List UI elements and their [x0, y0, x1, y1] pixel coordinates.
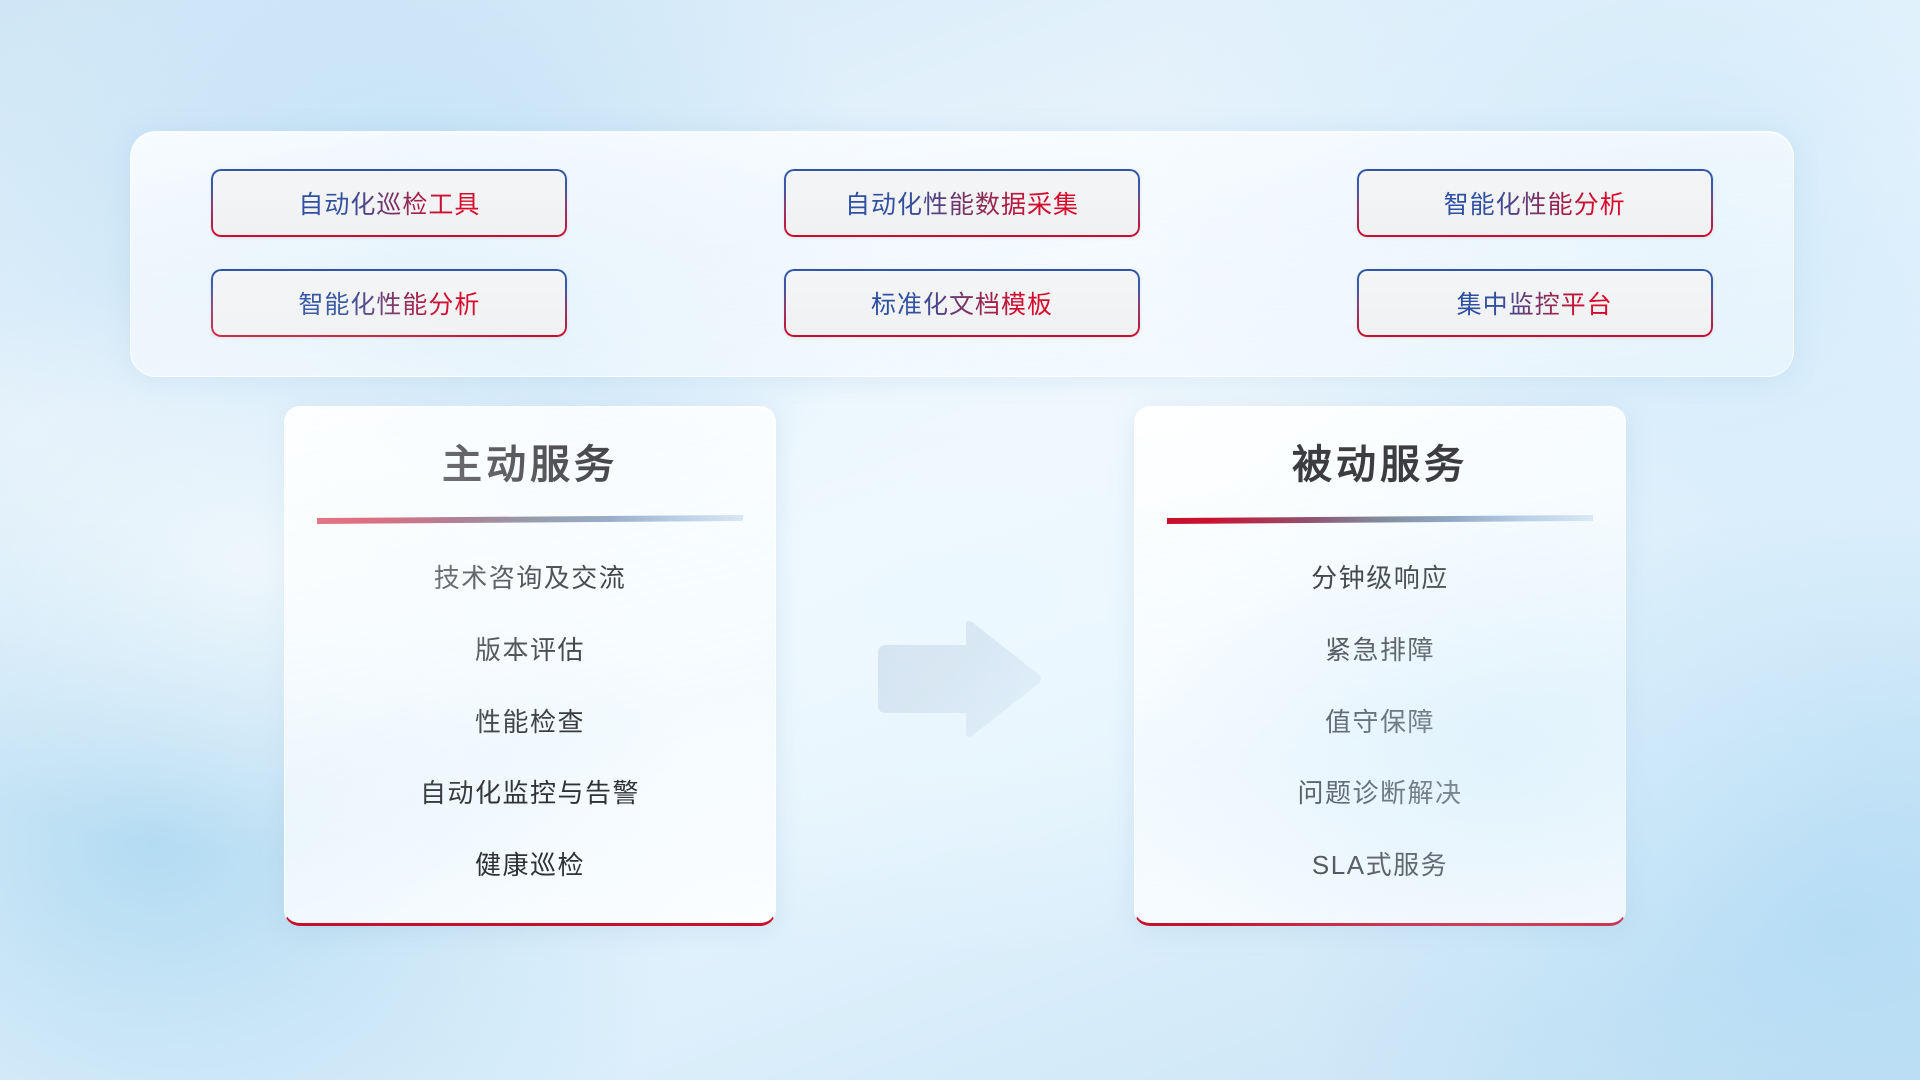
- card-list-item: 性能检查: [475, 706, 585, 740]
- capability-tag-label: 标准化文档模板: [871, 285, 1053, 321]
- card-list-item: 问题诊断解决: [1297, 777, 1462, 811]
- capability-tag-label: 集中监控平台: [1457, 285, 1613, 321]
- card-list-item: 值守保障: [1325, 706, 1435, 740]
- card-item-list: 技术咨询及交流 版本评估 性能检查 自动化监控与告警 健康巡检: [325, 554, 735, 897]
- card-title: 主动服务: [442, 441, 618, 489]
- card-list-item: 版本评估: [475, 634, 585, 668]
- card-list-item: 分钟级响应: [1311, 562, 1449, 596]
- capability-tag[interactable]: 自动化巡检工具: [211, 169, 567, 237]
- card-list-item: 技术咨询及交流: [434, 562, 627, 596]
- card-list-item: 健康巡检: [475, 849, 585, 883]
- card-divider: [317, 515, 743, 524]
- capability-tag[interactable]: 集中监控平台: [1357, 269, 1713, 337]
- card-title: 被动服务: [1292, 441, 1468, 489]
- card-list-item: 紧急排障: [1325, 634, 1435, 668]
- card-list-item: SLA式服务: [1312, 849, 1448, 883]
- capability-tag[interactable]: 自动化性能数据采集: [784, 169, 1140, 237]
- arrow-right-icon: [874, 619, 1044, 739]
- service-card-passive[interactable]: 被动服务 分钟级响应 紧急排障 值守保障 问题诊断解决 SLA式服务: [1134, 406, 1626, 926]
- capability-tag-label: 智能化性能分析: [298, 285, 480, 321]
- capability-tag-label: 自动化性能数据采集: [845, 185, 1079, 221]
- capability-tag[interactable]: 标准化文档模板: [784, 269, 1140, 337]
- capability-tag[interactable]: 智能化性能分析: [1357, 169, 1713, 237]
- capability-tag-label: 智能化性能分析: [1444, 185, 1626, 221]
- card-item-list: 分钟级响应 紧急排障 值守保障 问题诊断解决 SLA式服务: [1175, 554, 1585, 897]
- service-card-active[interactable]: 主动服务 技术咨询及交流 版本评估 性能检查 自动化监控与告警 健康巡检: [284, 406, 776, 926]
- capability-tag-panel: 自动化巡检工具 自动化性能数据采集 智能化性能分析 智能化性能分析 标准化文档模…: [130, 131, 1794, 377]
- capability-tag-label: 自动化巡检工具: [298, 185, 480, 221]
- slide-canvas: 自动化巡检工具 自动化性能数据采集 智能化性能分析 智能化性能分析 标准化文档模…: [0, 0, 1920, 1080]
- card-list-item: 自动化监控与告警: [420, 777, 640, 811]
- capability-tag[interactable]: 智能化性能分析: [211, 269, 567, 337]
- card-divider: [1167, 515, 1593, 524]
